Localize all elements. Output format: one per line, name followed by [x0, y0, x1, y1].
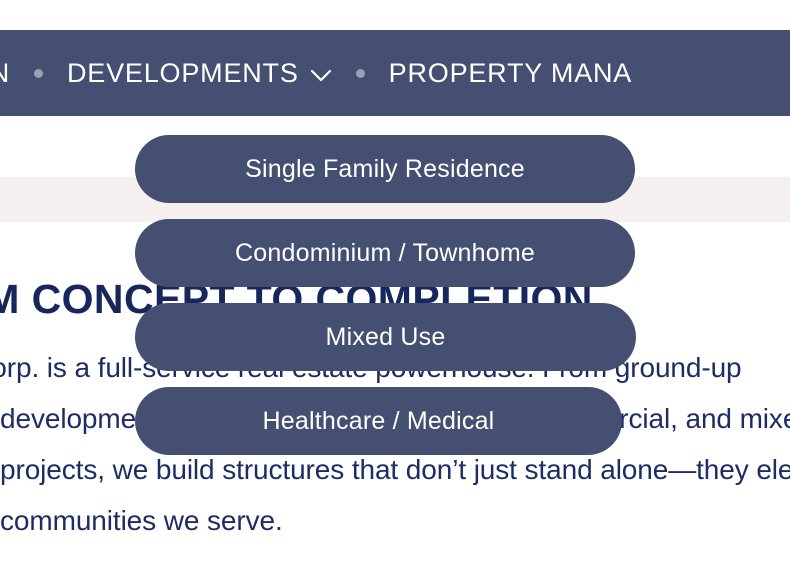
nav-separator-dot — [34, 69, 43, 78]
dropdown-item-condominium-townhome[interactable]: Condominium / Townhome — [135, 219, 635, 287]
nav-items-container: CTION DEVELOPMENTS PROPERTY MANA — [0, 60, 632, 87]
dropdown-item-label: Mixed Use — [326, 323, 446, 352]
dropdown-item-label: Healthcare / Medical — [263, 407, 495, 436]
dropdown-item-mixed-use[interactable]: Mixed Use — [135, 303, 636, 371]
dropdown-item-single-family-residence[interactable]: Single Family Residence — [135, 135, 635, 203]
nav-item-property-management[interactable]: PROPERTY MANA — [389, 60, 632, 87]
dropdown-item-label: Condominium / Townhome — [235, 239, 535, 268]
nav-item-developments[interactable]: DEVELOPMENTS — [67, 60, 332, 87]
nav-item-label: DEVELOPMENTS — [67, 60, 299, 87]
nav-item-label: CTION — [0, 60, 10, 87]
developments-dropdown-menu: Single Family Residence Condominium / To… — [135, 135, 636, 471]
nav-separator-dot — [356, 69, 365, 78]
chevron-down-icon[interactable] — [310, 69, 332, 82]
main-navigation-bar: CTION DEVELOPMENTS PROPERTY MANA — [0, 30, 790, 116]
dropdown-item-healthcare-medical[interactable]: Healthcare / Medical — [135, 387, 622, 455]
nav-item-label: PROPERTY MANA — [389, 60, 632, 87]
nav-item-construction[interactable]: CTION — [0, 60, 10, 87]
dropdown-item-label: Single Family Residence — [245, 155, 525, 184]
